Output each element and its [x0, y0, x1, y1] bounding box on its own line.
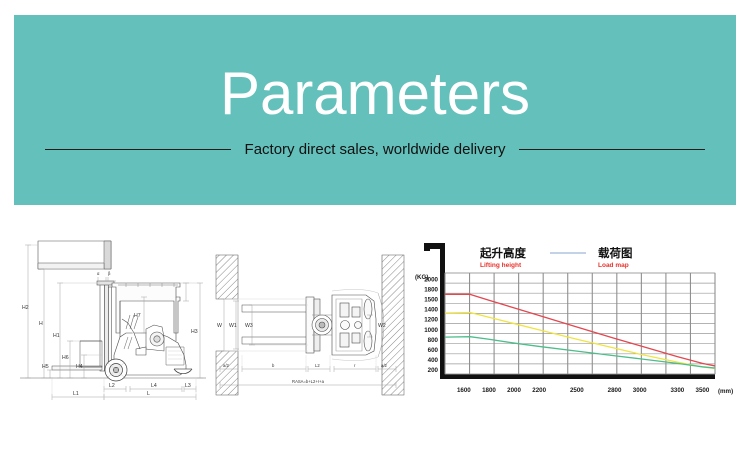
chart-x-tick: 2800 — [608, 387, 622, 394]
banner-subtitle: Factory direct sales, worldwide delivery — [245, 141, 506, 158]
chart-x-tick: 2500 — [570, 387, 584, 394]
dim-label-h: H — [39, 321, 43, 327]
parameters-page: Parameters Factory direct sales, worldwi… — [0, 0, 750, 449]
chart-y-tick: 1400 — [424, 307, 438, 314]
dim-label-l4: L4 — [151, 383, 157, 389]
chart-x-tick: 3000 — [633, 387, 647, 394]
chart-y-tick: 1000 — [424, 327, 438, 334]
chart-x-axis-unit: (mm) — [718, 388, 733, 395]
dim-label-h7: H7 — [134, 313, 141, 319]
dim-label-w2: W2 — [378, 323, 386, 329]
chart-y-tick: 1800 — [424, 286, 438, 293]
chart-plot-area — [445, 273, 715, 374]
dim-label-h2: H2 — [22, 305, 29, 311]
forklift-side-view-diagram: H2 H H1 H6 H4 H5 H3 H7 — [8, 237, 213, 412]
dim-label-rasa-formula: RASA=b+L2+r+a — [292, 379, 325, 384]
chart-y-axis-unit: (KG) — [415, 274, 428, 281]
dim-label-l: L — [147, 391, 150, 397]
dim-label-w: W — [217, 323, 222, 329]
dim-label-a-half-right: a/2 — [381, 363, 387, 368]
chart-x-tick: 2200 — [532, 387, 546, 394]
dim-label-w1: W1 — [229, 323, 237, 329]
dim-label-h6: H6 — [62, 355, 69, 361]
legend-load-map-cn: 载荷图 — [598, 246, 633, 260]
banner-subtitle-row: Factory direct sales, worldwide delivery — [45, 141, 705, 158]
legend-lifting-height-en: Lifting height — [480, 262, 522, 269]
dim-label-beta: β — [108, 271, 111, 276]
dim-label-b: b — [272, 363, 275, 368]
dim-label-l3: L3 — [185, 383, 191, 389]
dim-label-h4: H4 — [76, 364, 83, 370]
dim-label-a-half-left: a/2 — [223, 363, 229, 368]
chart-x-tick: 3500 — [696, 387, 710, 394]
load-capacity-chart: 起升高度 Lifting height 载荷图 Load map 2000180… — [408, 235, 746, 420]
dim-label-alpha: α — [97, 271, 100, 276]
chart-y-tick: 1500 — [424, 296, 438, 303]
dim-label-h5: H5 — [42, 364, 49, 370]
dim-label-l2: L2 — [109, 383, 115, 389]
chart-x-tick: 3300 — [670, 387, 684, 394]
chart-x-tick: 2000 — [507, 387, 521, 394]
chart-x-axis-labels: 160018002000220025002800300033003500 — [457, 387, 710, 394]
legend-lifting-height-cn: 起升高度 — [479, 246, 526, 260]
dim-label-l1: L1 — [73, 391, 79, 397]
dim-label-h3: H3 — [191, 329, 198, 335]
dim-label-l2-plan: L2 — [315, 363, 320, 368]
page-title: Parameters — [220, 63, 530, 125]
chart-y-tick: 600 — [428, 347, 439, 354]
dim-label-w3: W3 — [245, 323, 253, 329]
dim-label-r: r — [354, 363, 356, 368]
page-banner: Parameters Factory direct sales, worldwi… — [14, 15, 736, 205]
banner-rule-right — [519, 149, 705, 150]
chart-x-tick: 1800 — [482, 387, 496, 394]
chart-y-tick: 800 — [428, 337, 439, 344]
chart-y-axis-labels: 200018001500140012001000800600400200 — [424, 276, 438, 374]
dim-label-h1: H1 — [53, 333, 60, 339]
chart-x-tick: 1600 — [457, 387, 471, 394]
diagram-row: H2 H H1 H6 H4 H5 H3 H7 — [0, 215, 750, 449]
banner-rule-left — [45, 149, 231, 150]
forklift-top-view-diagram: W W1 W3 W2 a/2 b — [212, 255, 407, 405]
legend-load-map-en: Load map — [598, 262, 629, 269]
chart-y-tick: 200 — [428, 367, 439, 374]
chart-legend: 起升高度 Lifting height 载荷图 Load map — [479, 246, 633, 269]
chart-y-tick: 400 — [428, 357, 439, 364]
chart-y-tick: 1200 — [424, 317, 438, 324]
